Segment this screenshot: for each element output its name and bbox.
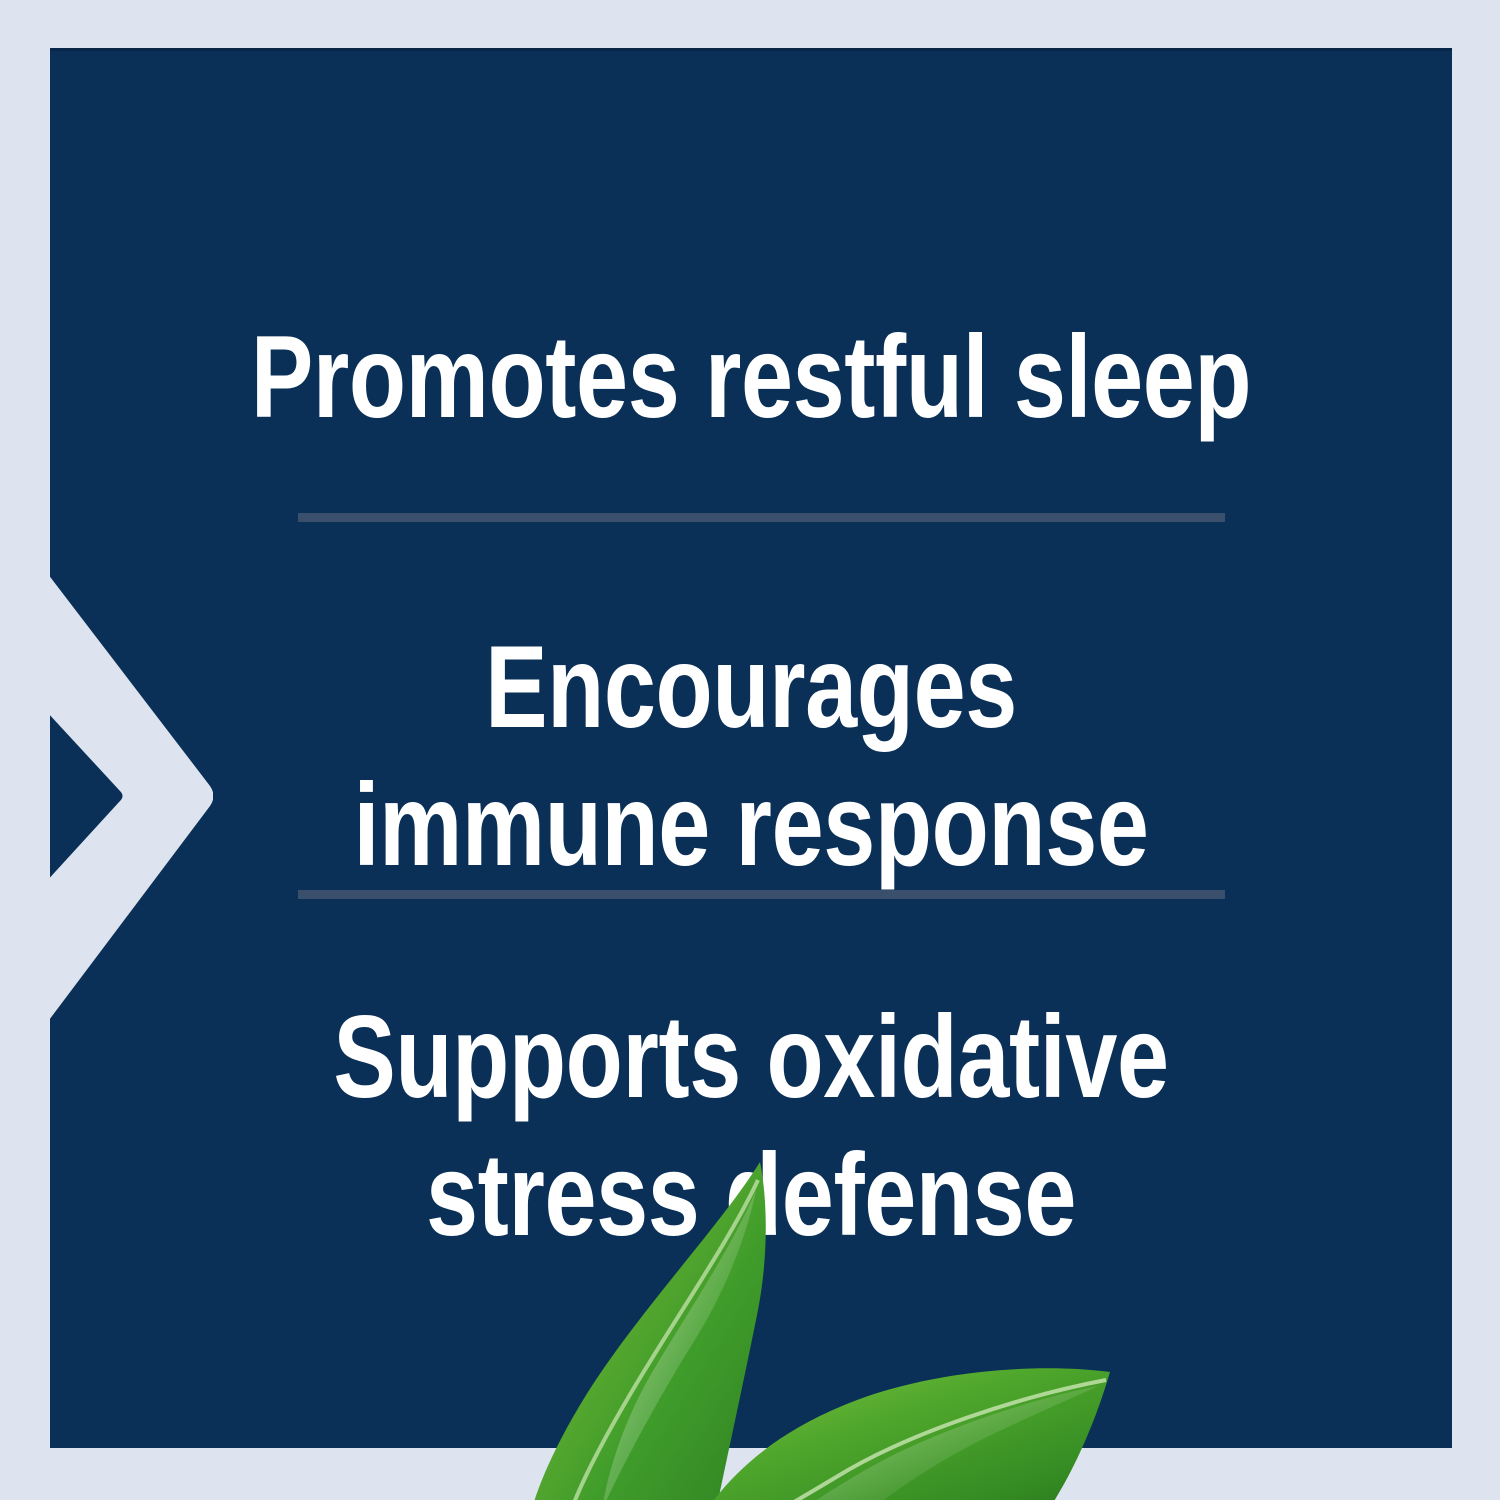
benefit-item-3: Supports oxidative stress defense: [190, 988, 1312, 1264]
benefit-2-line-2: immune response: [190, 756, 1312, 894]
divider-after-sleep: [298, 513, 1225, 522]
benefit-3-line-2: stress defense: [190, 1126, 1312, 1264]
benefit-3-line-1: Supports oxidative: [190, 988, 1312, 1126]
benefit-2-line-1: Encourages: [190, 618, 1312, 756]
benefit-item-2: Encourages immune response: [190, 618, 1312, 894]
benefit-1-line-1: Promotes restful sleep: [190, 318, 1312, 435]
divider-after-immune: [298, 890, 1225, 899]
benefit-item-1: Promotes restful sleep: [190, 318, 1312, 435]
chevron-accent-icon: [50, 548, 213, 1048]
panel-top-edge: [50, 48, 1452, 51]
benefits-panel: Promotes restful sleep Encourages immune…: [50, 48, 1452, 1448]
product-benefits-graphic: Promotes restful sleep Encourages immune…: [0, 0, 1500, 1500]
